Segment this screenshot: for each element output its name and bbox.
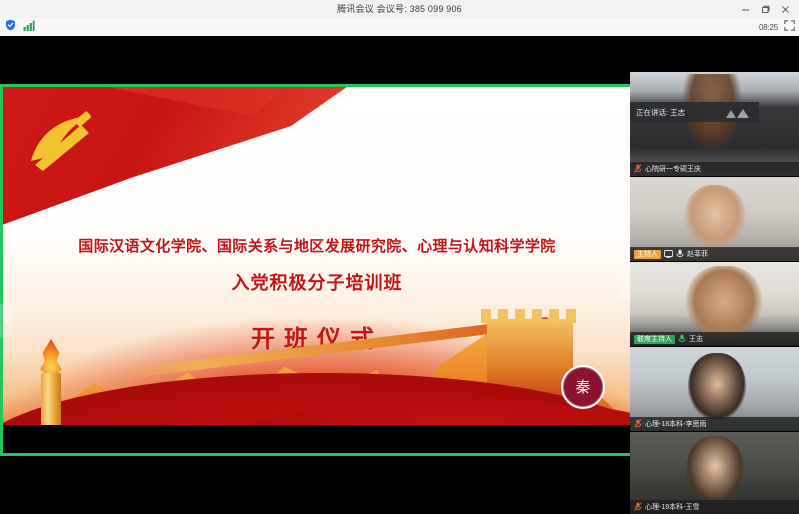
shared-slide[interactable]: 国际汉语文化学院、国际关系与地区发展研究院、心理与认知科学学院 入党积极分子培训…	[3, 87, 631, 453]
toolbar-left-group	[5, 18, 35, 36]
participant-namebar: 主持人 赵莘菲	[630, 247, 799, 261]
mic-icon	[676, 245, 684, 261]
mic-muted-icon	[634, 415, 642, 431]
host-badge: 主持人	[634, 250, 661, 259]
participant-tile[interactable]: 主持人 赵莘菲	[630, 177, 799, 261]
slide-letterbox	[3, 425, 631, 453]
participant-namebar: 心院研一专硕王庆	[630, 162, 799, 176]
slide-line-1: 国际汉语文化学院、国际关系与地区发展研究院、心理与认知科学学院	[3, 235, 631, 256]
participant-video	[630, 72, 799, 176]
window-controls	[735, 0, 795, 18]
active-speaker-banner: 正在讲话: 王志	[630, 102, 759, 122]
participant-namebar: 心理-19本科-王雪	[630, 500, 799, 514]
meeting-stage: 国际汉语文化学院、国际关系与地区发展研究院、心理与认知科学学院 入党积极分子培训…	[0, 36, 799, 476]
minimize-icon[interactable]	[735, 0, 755, 18]
participant-tile[interactable]: 正在讲话: 王志	[630, 72, 799, 176]
fullscreen-icon[interactable]	[784, 18, 795, 36]
seal-text: 秦	[575, 380, 590, 395]
hammer-sickle-icon	[21, 109, 99, 175]
participant-name: 心院研一专硕王庆	[645, 164, 701, 174]
participant-tile[interactable]: 心理-19本科-王雪	[630, 432, 799, 514]
tencent-meeting-window: 腾讯会议 会议号: 385 099 906	[0, 0, 799, 476]
participant-namebar: 心理-18本科-李思雨	[630, 417, 799, 431]
restore-icon[interactable]	[755, 0, 775, 18]
cohost-badge: 联席主持人	[634, 335, 675, 344]
participant-name: 赵莘菲	[687, 249, 708, 259]
window-title: 腾讯会议 会议号: 385 099 906	[0, 0, 799, 18]
mic-muted-icon	[634, 160, 642, 176]
mic-active-icon	[678, 330, 686, 346]
mic-muted-icon	[634, 498, 642, 514]
slide-line-2: 入党积极分子培训班	[3, 269, 631, 295]
participant-name: 心理-18本科-李思雨	[645, 419, 706, 429]
participant-tile[interactable]: 心理-18本科-李思雨	[630, 347, 799, 431]
signal-bars-icon[interactable]	[23, 18, 35, 36]
participant-name: 心理-19本科-王雪	[645, 502, 699, 512]
meeting-timer: 08:25	[759, 23, 778, 32]
toolbar-right-group: 08:25	[759, 18, 795, 36]
close-icon[interactable]	[775, 0, 795, 18]
active-speaker-label: 正在讲话: 王志	[636, 107, 685, 118]
participant-namebar: 联席主持人 王志	[630, 332, 799, 346]
title-bar: 腾讯会议 会议号: 385 099 906	[0, 0, 799, 19]
chevron-left-icon[interactable]: ‹	[0, 304, 13, 338]
meeting-toolbar: 08:25	[0, 18, 799, 37]
participant-video-column: 正在讲话: 王志	[630, 72, 799, 512]
shield-icon[interactable]	[5, 18, 16, 36]
audio-wave-icon	[725, 106, 751, 118]
screen-share-icon	[664, 245, 673, 261]
participant-tile[interactable]: 联席主持人 王志	[630, 262, 799, 346]
participant-name: 王志	[689, 334, 703, 344]
university-seal: 秦	[561, 365, 605, 409]
